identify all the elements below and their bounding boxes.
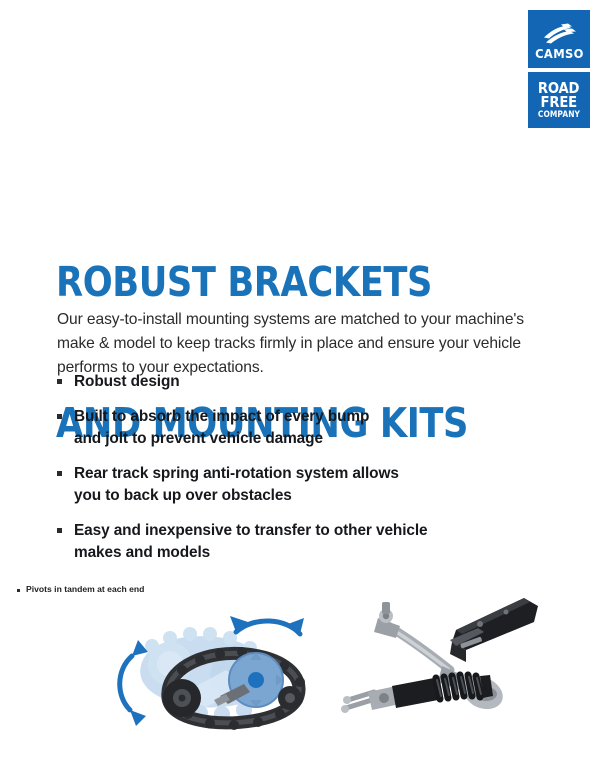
- mounting-bracket-rail: [450, 598, 538, 662]
- footnote-label: Pivots in tandem at each end: [26, 584, 144, 595]
- brand-logo-block: CAMSO ROAD FREE COMPANY: [528, 10, 590, 128]
- list-item: Easy and inexpensive to transfer to othe…: [57, 520, 527, 564]
- list-item: Built to absorb the impact of every bump…: [57, 406, 527, 450]
- camso-badge: CAMSO: [528, 10, 590, 68]
- list-item-label: Built to absorb the impact of every bump…: [74, 406, 369, 450]
- square-bullet-icon: [57, 471, 62, 476]
- road-free-line-2: FREE: [541, 95, 578, 110]
- footnote: Pivots in tandem at each end: [17, 584, 144, 595]
- square-bullet-icon: [57, 379, 62, 384]
- mounting-kit-hardware-photo: [338, 588, 543, 728]
- rubber-track-pivot-diagram: [108, 600, 333, 735]
- coil-spring-shock: [341, 675, 493, 713]
- feature-bullet-list: Robust design Built to absorb the impact…: [57, 371, 527, 577]
- square-bullet-icon: [57, 528, 62, 533]
- camso-wordmark: CAMSO: [535, 48, 584, 61]
- road-free-company-badge: ROAD FREE COMPANY: [528, 72, 590, 128]
- list-item-label: Easy and inexpensive to transfer to othe…: [74, 520, 427, 564]
- list-item: Robust design: [57, 371, 527, 393]
- pivot-arrow-left: [120, 656, 132, 710]
- intro-paragraph: Our easy-to-install mounting systems are…: [57, 308, 527, 380]
- list-item-label: Robust design: [74, 371, 180, 393]
- page-title-line-1: ROBUST BRACKETS: [56, 259, 468, 306]
- road-free-line-3: COMPANY: [538, 111, 580, 119]
- camso-chevron-mark-icon: [541, 22, 577, 46]
- list-item-label: Rear track spring anti-rotation system a…: [74, 463, 399, 507]
- list-item: Rear track spring anti-rotation system a…: [57, 463, 527, 507]
- square-bullet-icon: [17, 589, 20, 592]
- square-bullet-icon: [57, 414, 62, 419]
